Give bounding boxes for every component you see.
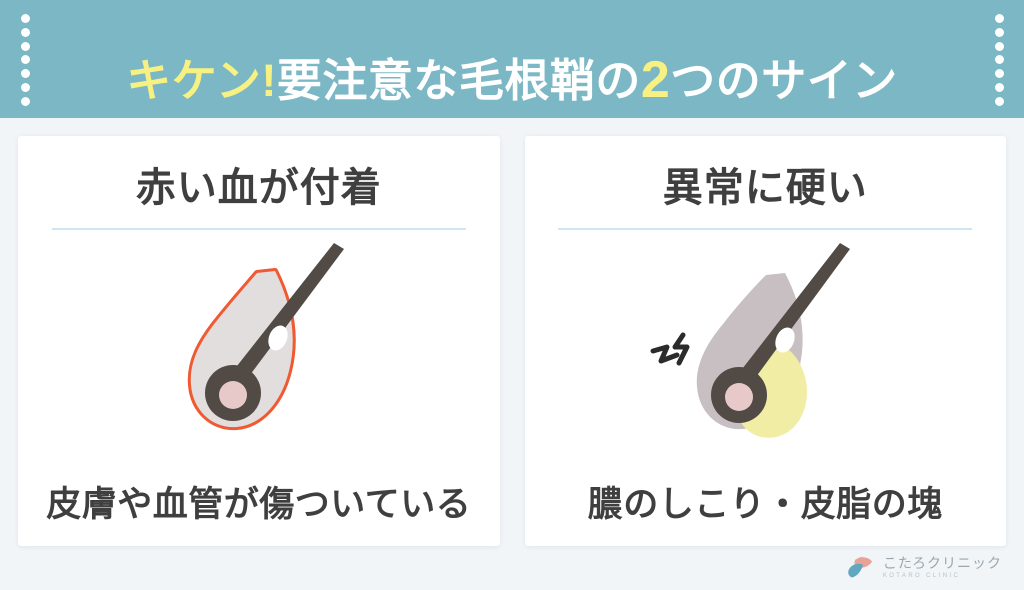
card-caption: 皮膚や血管が傷ついている [46,486,471,525]
dermal-papilla [725,383,753,411]
figure-wrap [18,230,500,486]
page-title: キケン! 要注意な毛根鞘の 2 つのサイン [0,21,1024,139]
dot [995,55,1004,64]
title-segment-main-2: つのサイン [670,58,898,103]
clinic-name: こたろクリニック [883,556,1002,570]
card-title: 異常に硬い [663,166,868,210]
clinic-logo-text: こたろクリニック KOTARO CLINIC [883,556,1002,579]
hair-root-with-sebum-icon [635,243,895,473]
sign-card-hard: 異常に硬い [525,136,1007,546]
infographic-page: キケン! 要注意な毛根鞘の 2 つのサイン 赤い血が付着 [0,0,1024,590]
title-segment-count: 2 [641,54,670,106]
dermal-papilla [219,381,247,409]
header-banner: キケン! 要注意な毛根鞘の 2 つのサイン [0,0,1024,118]
dot [995,28,1004,37]
spark-icon [653,347,677,361]
card-caption: 膿のしこり・皮脂の塊 [588,486,943,525]
hair-root-with-blood-icon [129,243,389,473]
figure-wrap [525,230,1007,486]
clinic-logo-mark-icon [845,552,875,582]
title-segment-main-1: 要注意な毛根鞘の [277,58,641,103]
sign-card-blood: 赤い血が付着 皮膚や [18,136,500,546]
dot [995,42,1004,51]
card-title: 赤い血が付着 [136,166,382,210]
clinic-logo: こたろクリニック KOTARO CLINIC [845,552,1002,582]
dot [995,97,1004,106]
spark-icon [675,335,687,363]
sign-cards-container: 赤い血が付着 皮膚や [18,136,1006,546]
clinic-name-romaji: KOTARO CLINIC [883,573,1002,579]
title-segment-warning: キケン! [126,58,277,103]
dot [995,69,1004,78]
logo-diamond-shape [848,564,863,578]
dot [995,14,1004,23]
header-dots-right [992,14,1006,106]
dot [995,83,1004,92]
